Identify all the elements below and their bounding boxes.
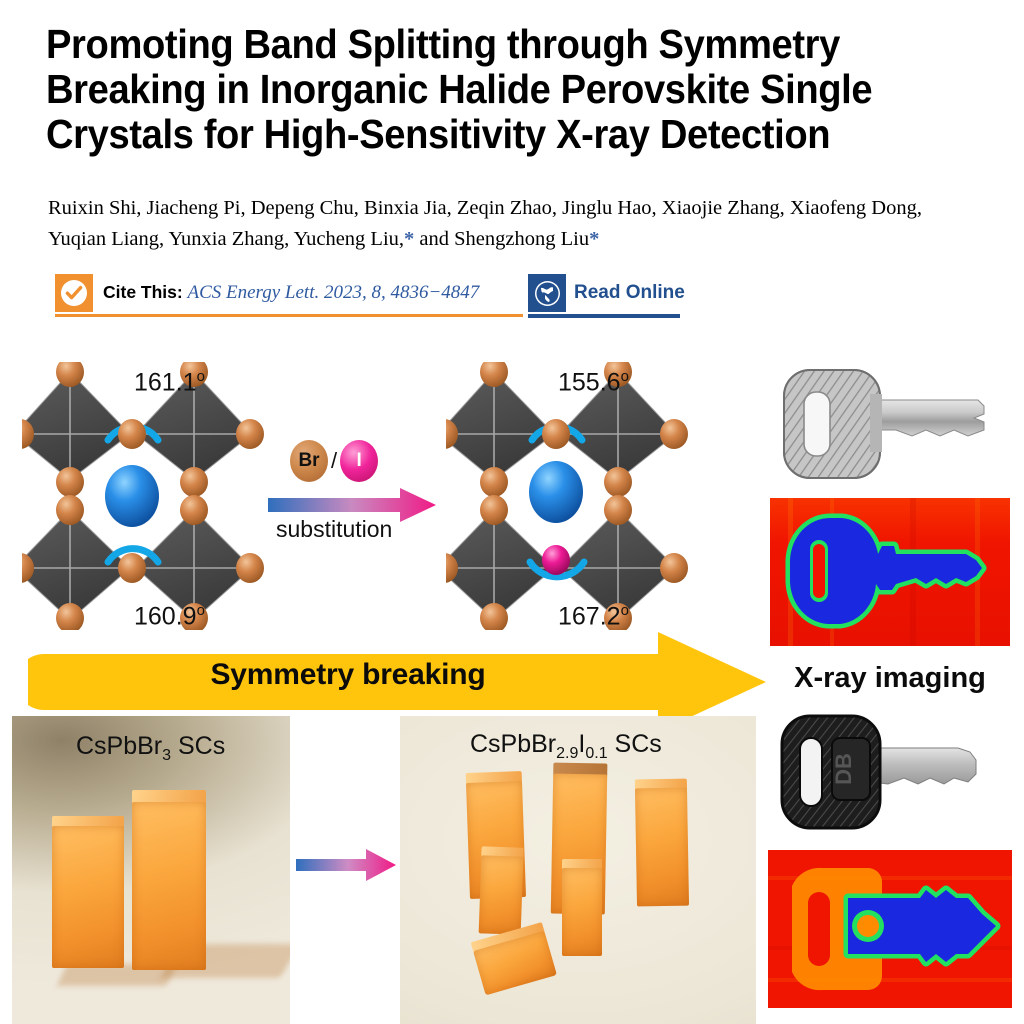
angle-value-top-left: 161.1 xyxy=(134,368,197,396)
xray-imaging-label: X-ray imaging xyxy=(762,662,1018,695)
crystal-left-1 xyxy=(52,826,124,968)
photo-right-sub-i: 0.1 xyxy=(585,745,607,762)
octahedra-diagram-right xyxy=(446,362,704,630)
slash-separator: / xyxy=(331,448,337,474)
silver-key-photo xyxy=(778,366,1000,482)
read-online-label: Read Online xyxy=(574,282,685,304)
author-line-2-text: Yuqian Liang, Yunxia Zhang, Yucheng Liu, xyxy=(48,228,404,250)
transition-arrow-icon xyxy=(296,848,396,886)
br-atom-sphere: Br xyxy=(290,440,328,482)
title-line-1: Promoting Band Splitting through Symmetr… xyxy=(46,22,916,67)
iodine-substituted-atom xyxy=(542,545,570,575)
photo-left-label: CsPbBr3 SCs xyxy=(76,732,225,765)
cite-this-text: Cite This: ACS Energy Lett. 2023, 8, 483… xyxy=(103,282,479,304)
check-circle-icon xyxy=(55,274,93,312)
crystal-right-6 xyxy=(473,931,557,996)
crystal-right-4 xyxy=(479,855,524,934)
crystal-structure-left: 161.1o 160.9o xyxy=(22,362,280,630)
cs-atom-right xyxy=(529,461,583,523)
author-line-2: Yuqian Liang, Yunxia Zhang, Yucheng Liu,… xyxy=(48,224,998,255)
angle-label-top-right: 155.6o xyxy=(558,368,629,397)
xray-image-silver-key xyxy=(770,498,1010,646)
octahedra-diagram-left xyxy=(22,362,280,630)
corresponding-author-star: * xyxy=(404,228,414,250)
crystal-right-5 xyxy=(562,868,602,956)
cite-this-bar[interactable]: Cite This: ACS Energy Lett. 2023, 8, 483… xyxy=(55,274,523,324)
title-line-2: Breaking in Inorganic Halide Perovskite … xyxy=(46,67,916,112)
author-line-1: Ruixin Shi, Jiacheng Pi, Depeng Chu, Bin… xyxy=(48,193,998,224)
photo-right-sub-br: 2.9 xyxy=(556,745,578,762)
angle-label-top-left: 161.1o xyxy=(134,368,205,397)
crystal-structure-right: 155.6o 167.2o xyxy=(446,362,704,630)
degree-symbol: o xyxy=(621,602,629,619)
photo-cspbbr29i01-crystals: CsPbBr2.9I0.1 SCs xyxy=(400,716,756,1024)
substitution-caption: substitution xyxy=(276,516,392,543)
page-title: Promoting Band Splitting through Symmetr… xyxy=(46,22,916,157)
read-online-button[interactable]: Read Online xyxy=(528,274,680,324)
read-online-underline xyxy=(528,314,680,318)
i-atom-sphere: I xyxy=(340,440,378,482)
author-line-2-tail: and Shengzhong Liu xyxy=(414,228,589,250)
substitution-group: Br / I substitution xyxy=(268,440,438,550)
degree-symbol: o xyxy=(197,602,205,619)
black-head-key-photo: DB xyxy=(778,712,1000,832)
photo-cspbbr3-crystals: CsPbBr3 SCs xyxy=(12,716,290,1024)
author-list: Ruixin Shi, Jiacheng Pi, Depeng Chu, Bin… xyxy=(48,193,998,255)
title-line-3: Crystals for High-Sensitivity X-ray Dete… xyxy=(46,112,916,157)
crystal-left-2 xyxy=(132,802,206,970)
degree-symbol: o xyxy=(197,368,205,385)
cite-citation: ACS Energy Lett. 2023, 8, 4836−4847 xyxy=(187,282,479,303)
cite-this-label: Cite This: xyxy=(103,282,183,302)
cs-atom-left xyxy=(105,465,159,527)
photo-right-label: CsPbBr2.9I0.1 SCs xyxy=(470,730,662,763)
substitution-atoms: Br / I xyxy=(290,440,378,482)
photo-left-subscript: 3 xyxy=(162,747,171,764)
cite-underline xyxy=(55,314,523,317)
degree-symbol: o xyxy=(621,368,629,385)
angle-value-top-right: 155.6 xyxy=(558,368,621,396)
symmetry-breaking-label: Symmetry breaking xyxy=(28,658,668,692)
globe-icon xyxy=(528,274,566,312)
crystal-right-3 xyxy=(635,788,689,907)
xray-image-black-head-key xyxy=(768,850,1012,1008)
corresponding-author-star-2: * xyxy=(589,228,599,250)
key-marking-text: DB xyxy=(831,753,856,785)
